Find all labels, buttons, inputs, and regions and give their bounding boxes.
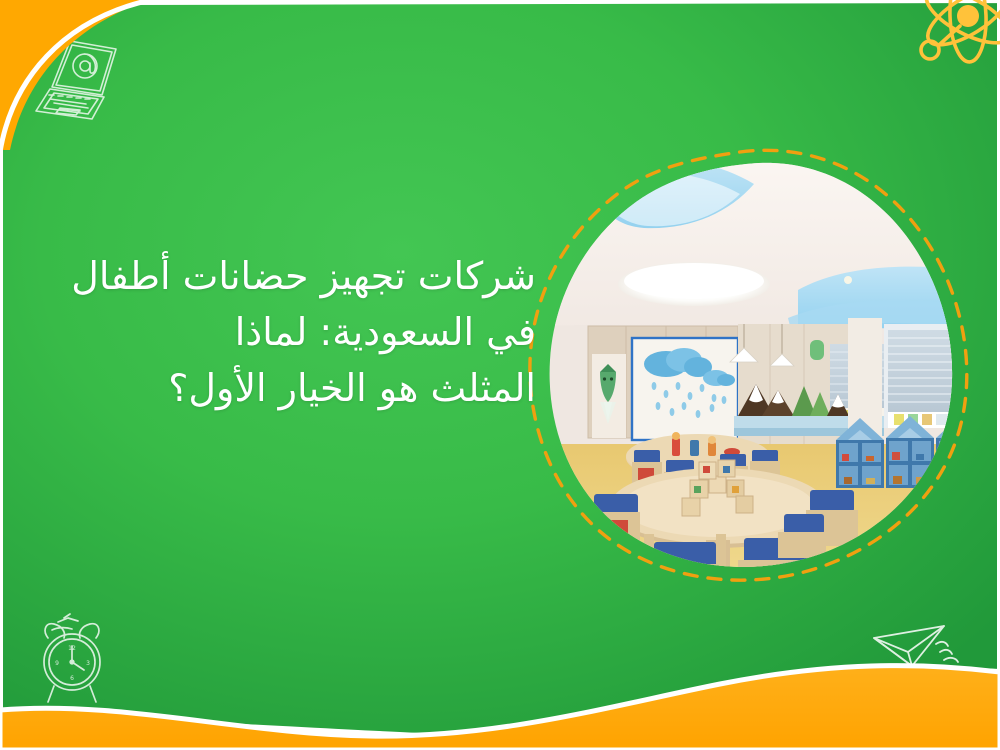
svg-text:12: 12 bbox=[68, 645, 76, 652]
paper-plane-icon bbox=[868, 616, 978, 696]
dashed-blob-outline-icon bbox=[516, 136, 986, 596]
svg-text:9: 9 bbox=[55, 660, 59, 667]
atom-icon bbox=[908, 0, 1000, 76]
banner-canvas: شركات تجهيز حضانات أطفال في السعودية: لم… bbox=[0, 0, 1000, 750]
at-symbol-icon bbox=[73, 54, 97, 78]
alarm-clock-icon: 12 3 6 9 bbox=[24, 608, 120, 708]
svg-text:3: 3 bbox=[86, 660, 90, 667]
laptop-icon bbox=[30, 25, 140, 120]
svg-text:6: 6 bbox=[70, 675, 74, 682]
classroom-photo bbox=[548, 158, 968, 578]
